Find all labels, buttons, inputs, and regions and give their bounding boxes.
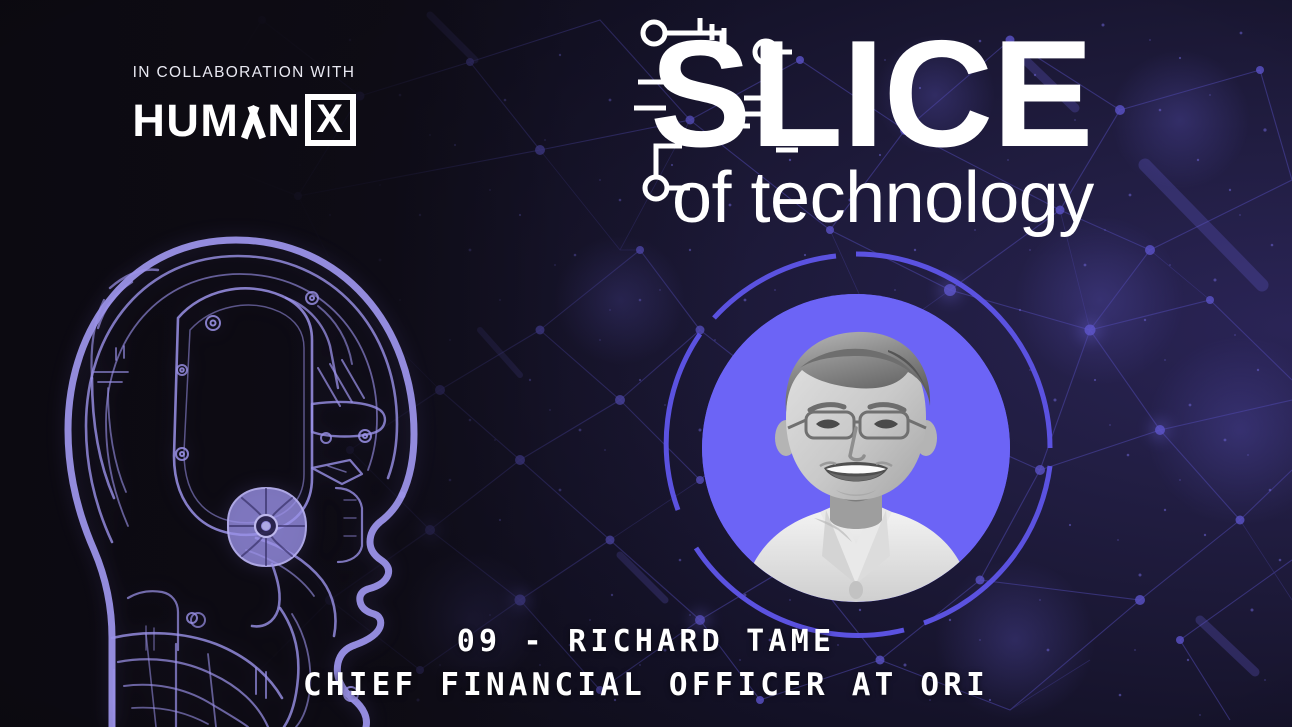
humanx-part1: HUM — [132, 98, 239, 143]
collaboration-kicker: IN COLLABORATION WITH — [104, 64, 384, 82]
collaboration-block: IN COLLABORATION WITH HUM N X — [104, 64, 384, 144]
lambda-a-glyph-icon — [240, 104, 266, 137]
humanx-wordmark: HUM N X — [132, 94, 355, 146]
avatar — [702, 294, 1010, 602]
caption-episode-name: 09 - RICHARD TAME — [0, 622, 1292, 661]
title-main: SLICE — [650, 12, 1093, 176]
humanx-bracket-x: X — [305, 94, 355, 146]
title-block: SLICE of technology — [638, 10, 1158, 234]
caption-role: CHIEF FINANCIAL OFFICER AT ORI — [0, 665, 1292, 705]
humanx-logo: HUM N X — [104, 96, 384, 144]
portrait-block — [656, 248, 1056, 648]
caption-block: 09 - RICHARD TAME CHIEF FINANCIAL OFFICE… — [0, 622, 1292, 705]
headshot-photo — [702, 294, 1010, 602]
slide-canvas: IN COLLABORATION WITH HUM N X — [0, 0, 1292, 727]
humanx-part2: N — [267, 98, 301, 143]
humanx-bracket-letter: X — [316, 99, 344, 139]
